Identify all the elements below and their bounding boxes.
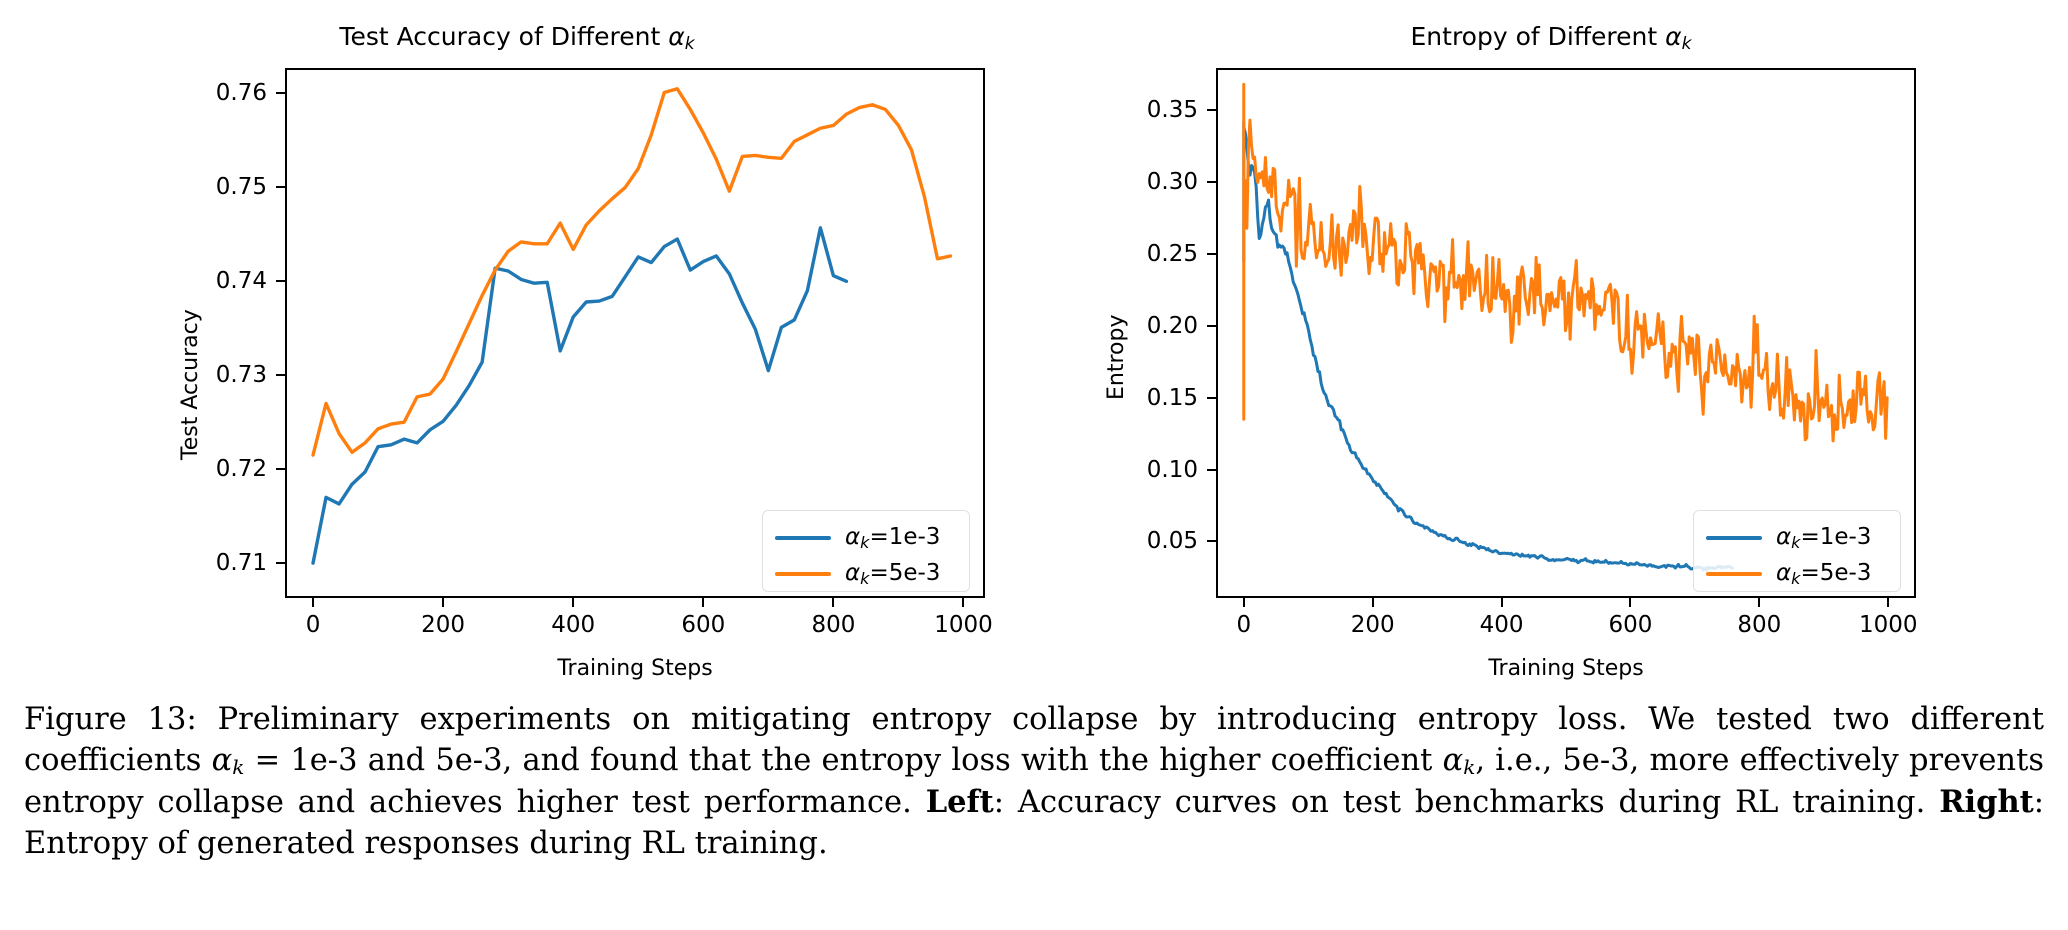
x-tick-label: 1000 (934, 612, 993, 638)
x-tick-mark (442, 598, 444, 607)
x-tick-label: 800 (811, 612, 855, 638)
legend-item-alpha-1e-3[interactable]: αk=1e-3 (1706, 520, 1886, 556)
y-tick-mark (276, 468, 285, 470)
y-tick-label: 0.20 (1086, 313, 1198, 339)
x-tick-label: 200 (1351, 612, 1395, 638)
legend-swatch-series-2 (1706, 572, 1762, 576)
legend-item-alpha-5e-3[interactable]: αk=5e-3 (1706, 556, 1886, 592)
legend-swatch-series-1 (775, 536, 831, 540)
y-tick-label: 0.05 (1086, 528, 1198, 554)
x-tick-mark (1887, 598, 1889, 607)
y-tick-label: 0.72 (155, 456, 267, 482)
right-plot-title: Entropy of Different αk (1034, 22, 2068, 54)
x-tick-label: 800 (1737, 612, 1781, 638)
y-tick-mark (276, 92, 285, 94)
legend-label-series-1: αk=1e-3 (1776, 524, 1871, 552)
y-tick-mark (276, 280, 285, 282)
right-title-subscript: k (1682, 34, 1692, 54)
legend-label-series-1: αk=1e-3 (845, 524, 940, 552)
x-tick-label: 400 (1480, 612, 1524, 638)
left-title-text: Test Accuracy of Different (339, 22, 668, 51)
left-title-subscript: k (685, 34, 695, 54)
right-xaxis-label: Training Steps (1216, 656, 1916, 681)
left-plot-title: Test Accuracy of Different αk (0, 22, 1034, 54)
x-tick-mark (572, 598, 574, 607)
x-tick-mark (312, 598, 314, 607)
x-tick-mark (1629, 598, 1631, 607)
right-title-alpha: α (1665, 22, 1681, 51)
caption-prefix: Figure 13: (24, 702, 197, 737)
y-tick-mark (1207, 397, 1216, 399)
right-plot-legend[interactable]: αk=1e-3 αk=5e-3 (1693, 510, 1901, 592)
x-tick-mark (1372, 598, 1374, 607)
y-tick-label: 0.73 (155, 362, 267, 388)
x-tick-label: 400 (551, 612, 595, 638)
y-tick-mark (1207, 181, 1216, 183)
y-tick-mark (1207, 325, 1216, 327)
legend-label-series-2: αk=5e-3 (1776, 560, 1871, 588)
y-tick-mark (276, 374, 285, 376)
y-tick-mark (276, 186, 285, 188)
figure-caption: Figure 13: Preliminary experiments on mi… (24, 700, 2044, 864)
left-xaxis-label: Training Steps (285, 656, 985, 681)
figure-13: Test Accuracy of Different αk 0.710.720.… (0, 0, 2068, 930)
y-tick-label: 0.30 (1086, 169, 1198, 195)
x-tick-mark (1243, 598, 1245, 607)
panel-entropy: Entropy of Different αk 0.050.100.150.20… (1034, 0, 2068, 700)
y-tick-mark (1207, 109, 1216, 111)
legend-label-series-2: αk=5e-3 (845, 560, 940, 588)
right-yaxis-label: Entropy (1104, 315, 1129, 400)
x-tick-mark (832, 598, 834, 607)
y-tick-label: 0.35 (1086, 97, 1198, 123)
left-yaxis-label: Test Accuracy (178, 309, 203, 460)
x-tick-mark (962, 598, 964, 607)
left-plot-legend[interactable]: αk=1e-3 αk=5e-3 (762, 510, 970, 592)
x-tick-label: 0 (1236, 612, 1251, 638)
y-tick-label: 0.25 (1086, 241, 1198, 267)
plot-panels: Test Accuracy of Different αk 0.710.720.… (0, 0, 2068, 700)
y-tick-mark (1207, 469, 1216, 471)
x-tick-label: 200 (421, 612, 465, 638)
y-tick-mark (1207, 540, 1216, 542)
y-tick-mark (1207, 253, 1216, 255)
y-tick-label: 0.71 (155, 550, 267, 576)
x-tick-label: 1000 (1859, 612, 1918, 638)
panel-test-accuracy: Test Accuracy of Different αk 0.710.720.… (0, 0, 1034, 700)
x-tick-label: 0 (306, 612, 321, 638)
x-tick-label: 600 (1608, 612, 1652, 638)
left-title-alpha: α (668, 22, 684, 51)
x-tick-mark (702, 598, 704, 607)
legend-swatch-series-1 (1706, 536, 1762, 540)
y-tick-label: 0.10 (1086, 457, 1198, 483)
y-tick-label: 0.75 (155, 174, 267, 200)
y-tick-label: 0.76 (155, 80, 267, 106)
legend-item-alpha-1e-3[interactable]: αk=1e-3 (775, 520, 955, 556)
x-tick-mark (1501, 598, 1503, 607)
right-title-text: Entropy of Different (1411, 22, 1666, 51)
x-tick-label: 600 (681, 612, 725, 638)
x-tick-mark (1758, 598, 1760, 607)
legend-item-alpha-5e-3[interactable]: αk=5e-3 (775, 556, 955, 592)
y-tick-mark (276, 562, 285, 564)
y-tick-label: 0.15 (1086, 385, 1198, 411)
legend-swatch-series-2 (775, 572, 831, 576)
y-tick-label: 0.74 (155, 268, 267, 294)
